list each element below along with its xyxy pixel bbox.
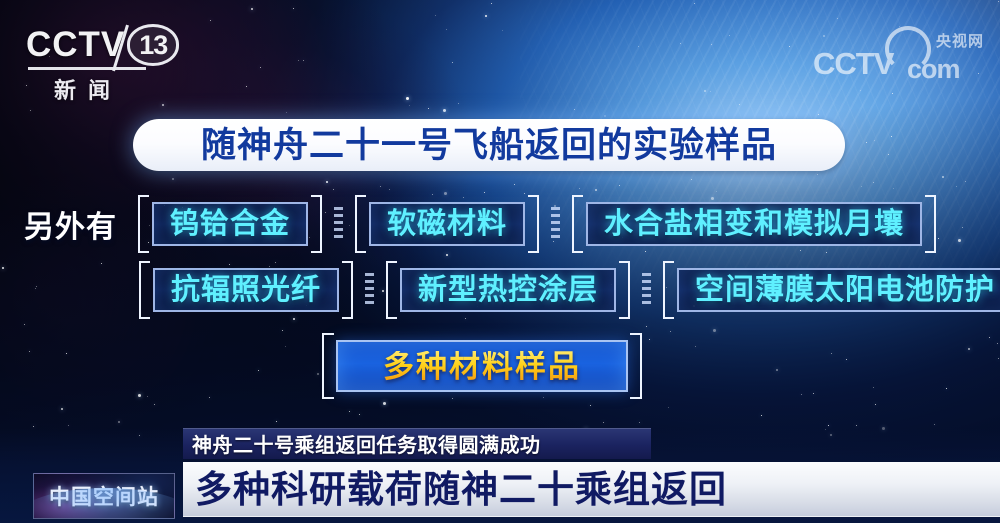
bracket-right-icon [528, 195, 539, 253]
channel-network-label: CCTV [26, 25, 125, 65]
tag-label: 水合盐相变和模拟月壤 [604, 210, 904, 239]
program-badge: 中国空间站 [33, 473, 175, 519]
page-title-text: 随神舟二十一号飞船返回的实验样品 [201, 128, 777, 163]
headline-text: 多种科研载荷随神二十乘组返回 [195, 471, 727, 508]
tag-label: 空间薄膜太阳电池防护 [695, 276, 995, 305]
tag-label: 软磁材料 [387, 210, 507, 239]
ticker-text: 神舟二十号乘组返回任务取得圆满成功 [192, 429, 541, 458]
bracket-right-icon [630, 333, 642, 399]
tag-label: 抗辐照光纤 [171, 276, 321, 305]
highlight-box: 多种材料样品 [336, 340, 628, 392]
row-lead-text: 另外有 [24, 202, 117, 246]
tick-marks-icon [365, 273, 374, 307]
cctv-com-watermark: CCTV com 央视网 [803, 26, 988, 84]
tag-row-2: 抗辐照光纤新型热控涂层空间薄膜太阳电池防护等 [128, 268, 1000, 312]
tag-box: 钨铪合金 [152, 202, 308, 246]
channel-number-label: 13 [139, 30, 167, 61]
bracket-left-icon [386, 261, 397, 319]
page-title: 随神舟二十一号飞船返回的实验样品 [133, 119, 845, 171]
tick-marks-icon [642, 273, 651, 307]
tag-label: 钨铪合金 [170, 210, 290, 239]
broadcast-screen: CCTV 13 新闻 CCTV com 央视网 随神舟二十一号飞船返回的实验样品… [0, 0, 1000, 523]
tag-item[interactable]: 新型热控涂层 [386, 268, 630, 312]
watermark-domain: com [907, 54, 960, 85]
bracket-left-icon [139, 261, 150, 319]
headline-bar: 多种科研载荷随神二十乘组返回 [183, 462, 1000, 517]
bracket-left-icon [138, 195, 149, 253]
bracket-left-icon [572, 195, 583, 253]
tag-box: 抗辐照光纤 [153, 268, 339, 312]
badge-glow [33, 488, 175, 519]
bracket-left-icon [322, 333, 334, 399]
tag-item[interactable]: 水合盐相变和模拟月壤 [572, 202, 936, 246]
tag-box: 空间薄膜太阳电池防护 [677, 268, 1000, 312]
channel-sub-label: 新闻 [54, 73, 206, 105]
bracket-left-icon [663, 261, 674, 319]
highlight-label: 多种材料样品 [383, 351, 581, 382]
bracket-right-icon [619, 261, 630, 319]
channel-logo: CCTV 13 新闻 [26, 24, 206, 105]
watermark-cn-name: 央视网 [936, 30, 984, 51]
tag-item[interactable]: 空间薄膜太阳电池防护 [663, 268, 1000, 312]
tick-marks-icon [334, 207, 343, 241]
channel-number-badge: 13 [127, 24, 179, 66]
tag-item[interactable]: 软磁材料 [355, 202, 539, 246]
bracket-right-icon [342, 261, 353, 319]
logo-underline [28, 67, 146, 70]
ticker-bar: 神舟二十号乘组返回任务取得圆满成功 [183, 428, 651, 459]
bracket-right-icon [311, 195, 322, 253]
tag-item[interactable]: 抗辐照光纤 [139, 268, 353, 312]
tag-item[interactable]: 钨铪合金 [138, 202, 322, 246]
tag-row-1: 另外有钨铪合金软磁材料水合盐相变和模拟月壤 [24, 202, 947, 246]
bracket-left-icon [355, 195, 366, 253]
tag-box: 新型热控涂层 [400, 268, 616, 312]
bracket-right-icon [925, 195, 936, 253]
tag-box: 软磁材料 [369, 202, 525, 246]
tag-label: 新型热控涂层 [418, 276, 598, 305]
tick-marks-icon [551, 207, 560, 241]
tag-box: 水合盐相变和模拟月壤 [586, 202, 922, 246]
watermark-brand: CCTV [813, 46, 893, 82]
highlight-callout: 多种材料样品 [322, 340, 642, 392]
